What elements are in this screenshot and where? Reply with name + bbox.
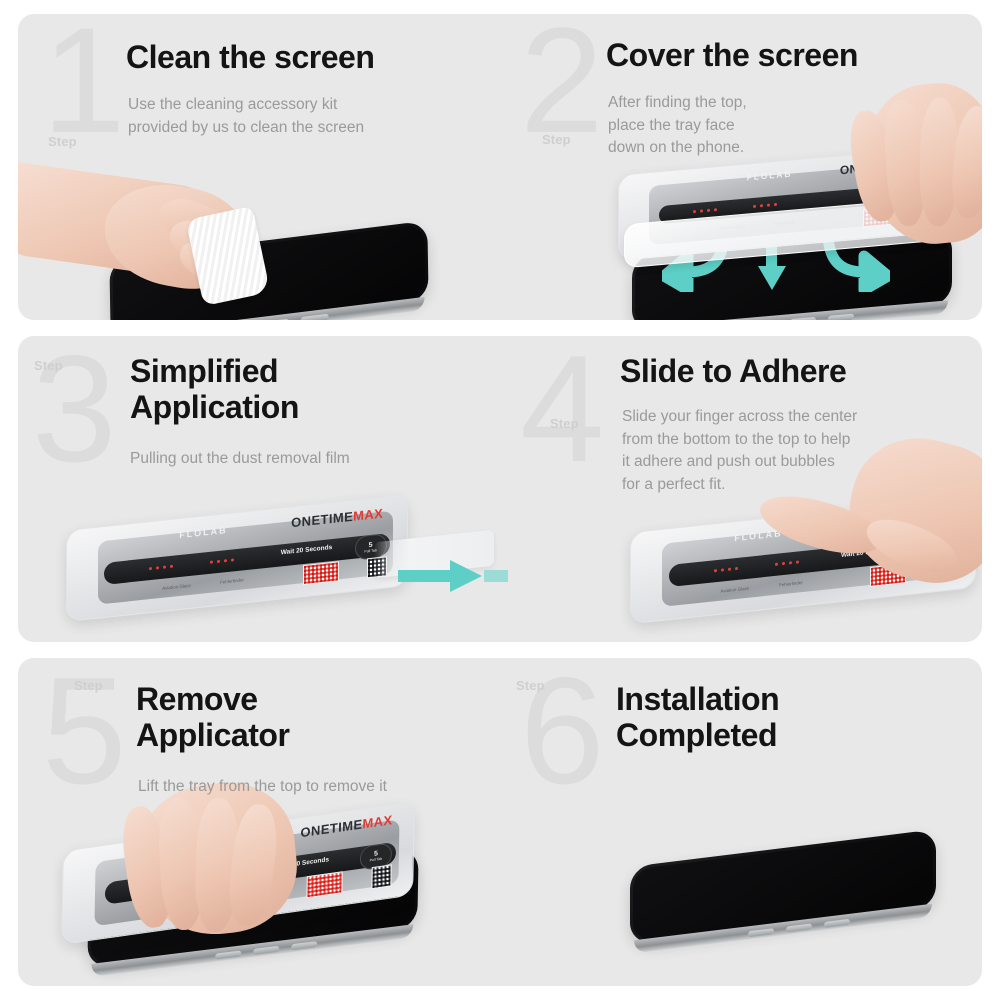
- step-5-title: Remove Applicator: [136, 682, 289, 754]
- step-3: 3 Step Simplified Application Pulling ou…: [18, 336, 500, 642]
- step-4: 4 Step Slide to Adhere Slide your finger…: [500, 336, 982, 642]
- step-1-title: Clean the screen: [126, 40, 374, 76]
- step-6: 6 Step Installation Completed: [500, 658, 982, 986]
- step-1-number: 1: [42, 22, 121, 139]
- panel-row-2: FLOLAB ONETIMEMAX Wait 20 Seconds 5 Pull…: [18, 336, 982, 642]
- step-3-step-label: Step: [34, 358, 63, 373]
- step-2-number: 2: [520, 22, 599, 139]
- step-4-title: Slide to Adhere: [620, 354, 846, 390]
- step-4-number: 4: [520, 350, 600, 469]
- step-5: 5 Step Remove Applicator Lift the tray f…: [18, 658, 500, 986]
- step-1-body: Use the cleaning accessory kit provided …: [128, 94, 364, 139]
- step-2: 2 Step Cover the screen After finding th…: [500, 14, 982, 320]
- step-2-step-label: Step: [542, 132, 571, 147]
- step-5-step-label: Step: [74, 678, 103, 693]
- step-6-step-label: Step: [516, 678, 545, 693]
- step-4-step-label: Step: [550, 416, 579, 431]
- step-6-title: Installation Completed: [616, 682, 779, 754]
- installation-guide: FLOLAB ONETIMEMAX Aviation Glass Fehlerf…: [0, 0, 1000, 1000]
- step-1-step-label: Step: [48, 134, 77, 149]
- step-3-title: Simplified Application: [130, 354, 299, 426]
- panel-row-1: FLOLAB ONETIMEMAX Aviation Glass Fehlerf…: [18, 14, 982, 320]
- step-2-body: After finding the top, place the tray fa…: [608, 92, 747, 160]
- panel-row-3: ONETIMEMAX Wait 20 Seconds 5 Pull Tab Fe…: [18, 658, 982, 986]
- step-4-body: Slide your finger across the center from…: [622, 406, 857, 497]
- step-3-body: Pulling out the dust removal film: [130, 448, 350, 471]
- step-2-title: Cover the screen: [606, 38, 858, 74]
- step-1: 1 Step Clean the screen Use the cleaning…: [18, 14, 500, 320]
- step-5-body: Lift the tray from the top to remove it: [138, 776, 387, 799]
